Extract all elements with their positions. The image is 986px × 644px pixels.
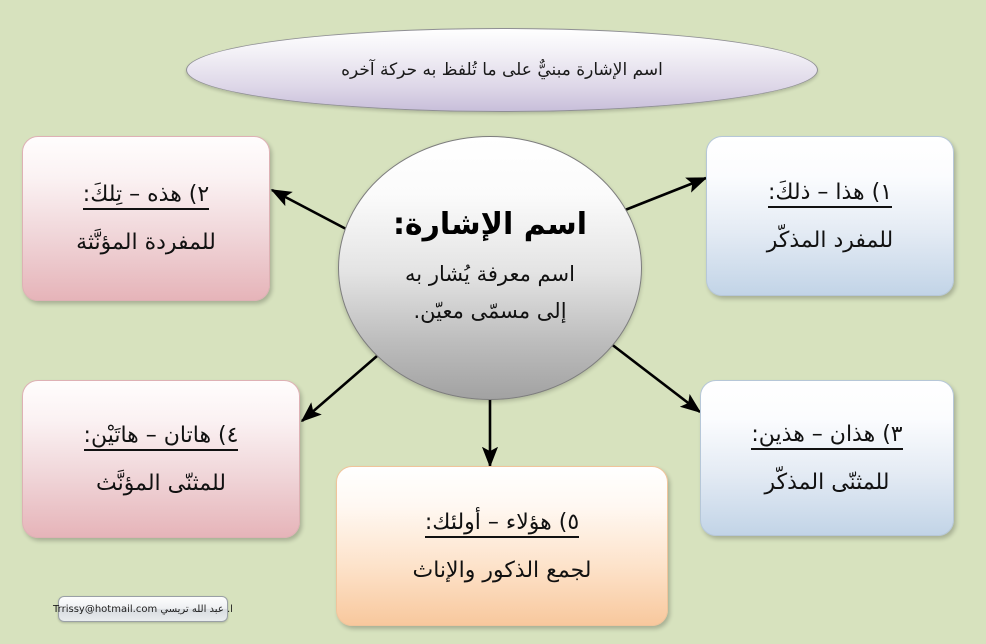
node-card-4: ٤) هاتان – هاتَيْن: للمثنّى المؤنَّث (22, 380, 300, 538)
credit-badge: ا. عبد الله تريسي Trrissy@hotmail.com (58, 596, 228, 622)
arrow-to-node4 (302, 356, 377, 421)
credit-text: ا. عبد الله تريسي Trrissy@hotmail.com (53, 604, 233, 615)
diagram-canvas: اسم الإشارة مبنيٌّ على ما تُلفظ به حركة … (0, 0, 986, 644)
node-card-3: ٣) هذان – هذين: للمثنّى المذكّر (700, 380, 954, 536)
center-line-1: اسم معرفة يُشار به (405, 256, 575, 293)
center-node: اسم الإشارة: اسم معرفة يُشار به إلى مسمّ… (338, 136, 642, 400)
node-3-description: للمثنّى المذكّر (765, 470, 890, 495)
center-line-2: إلى مسمّى معيّن. (413, 293, 566, 330)
banner-text: اسم الإشارة مبنيٌّ على ما تُلفظ به حركة … (341, 60, 663, 80)
node-card-1: ١) هذا – ذلكَ: للمفرد المذكّر (706, 136, 954, 296)
node-1-heading: ١) هذا – ذلكَ: (768, 180, 892, 208)
node-5-heading: ٥) هؤلاء – أولئك: (425, 510, 579, 538)
node-4-heading: ٤) هاتان – هاتَيْن: (84, 423, 239, 451)
banner-ellipse: اسم الإشارة مبنيٌّ على ما تُلفظ به حركة … (186, 28, 818, 112)
node-5-description: لجمع الذكور والإناث (413, 558, 592, 583)
node-2-description: للمفردة المؤنَّثة (76, 230, 216, 255)
node-1-description: للمفرد المذكّر (767, 228, 893, 253)
arrow-to-node3 (606, 340, 700, 412)
node-4-description: للمثنّى المؤنَّث (96, 471, 226, 496)
center-title: اسم الإشارة: (393, 207, 587, 242)
node-card-5: ٥) هؤلاء – أولئك: لجمع الذكور والإناث (336, 466, 668, 626)
node-3-heading: ٣) هذان – هذين: (751, 422, 902, 450)
arrow-to-node1 (620, 178, 706, 212)
node-card-2: ٢) هذه – تِلكَ: للمفردة المؤنَّثة (22, 136, 270, 301)
node-2-heading: ٢) هذه – تِلكَ: (83, 182, 209, 210)
